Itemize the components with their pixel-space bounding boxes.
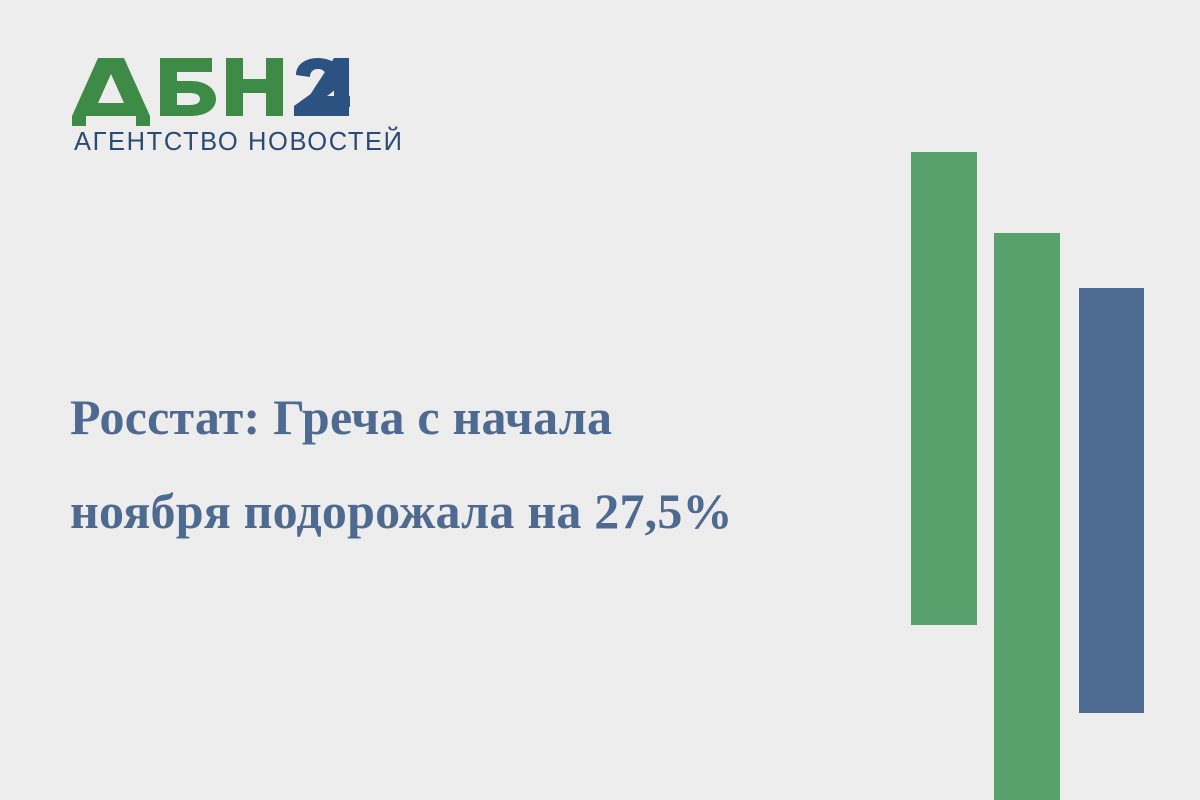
headline: Росстат: Греча с начала ноября подорожал… [70, 370, 870, 558]
headline-line-2: ноября подорожала на 27,5% [70, 464, 870, 558]
headline-line-1: Росстат: Греча с начала [70, 370, 870, 464]
logo-wordmark [72, 58, 372, 126]
abn24-logo[interactable]: АГЕНТСТВО НОВОСТЕЙ [72, 58, 372, 156]
logo-tagline: АГЕНТСТВО НОВОСТЕЙ [72, 130, 372, 156]
chart-bar-3 [1079, 288, 1144, 713]
logo-wordmark-icon [72, 58, 350, 126]
chart-bar-1 [911, 152, 977, 625]
chart-bar-2 [994, 233, 1060, 800]
poster-canvas: АГЕНТСТВО НОВОСТЕЙ Росстат: Греча с нача… [0, 0, 1200, 800]
